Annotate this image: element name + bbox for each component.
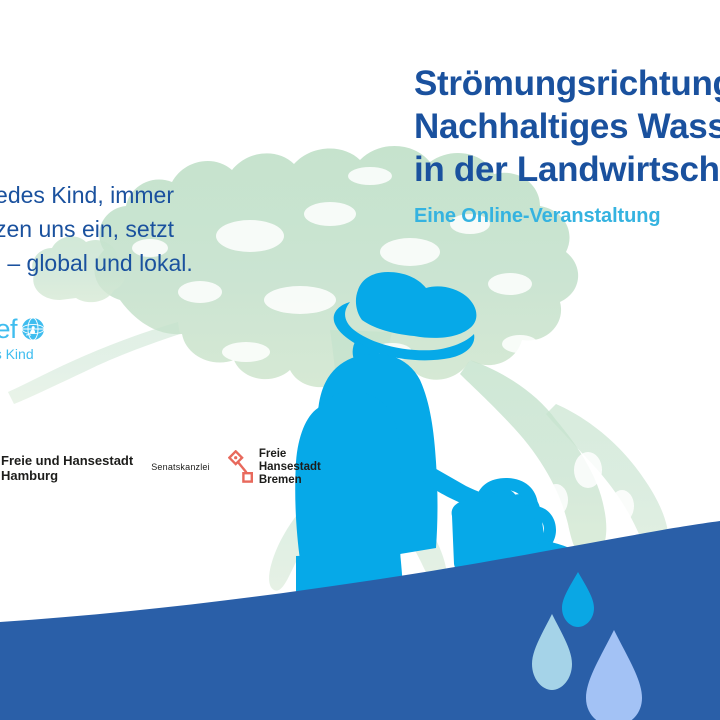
- partner-logo-hamburg: Freie und Hansestadt Hamburg: [0, 451, 133, 485]
- partner-logo-senatskanzlei: Senatskanzlei: [151, 462, 210, 473]
- farmer-hat: [356, 272, 476, 338]
- bremen-key-icon: [228, 450, 254, 486]
- droplet-pale-mint: [532, 614, 572, 690]
- bremen-line-1: Freie: [259, 448, 321, 461]
- claim-block: Für jedes Kind, immer Wir setzen uns ein…: [0, 178, 174, 280]
- farmer-leg-split: [342, 606, 366, 720]
- claim-line-1: Für jedes Kind, immer: [0, 178, 174, 212]
- unicef-wordmark: unicef: [0, 314, 17, 344]
- headline-line-3: in der Landwirtschaft: [414, 148, 720, 191]
- bremen-line-3: Bremen: [259, 474, 321, 487]
- unicef-logo: unicef für jedes Kind: [0, 314, 98, 363]
- farmer-head-neck: [353, 340, 396, 383]
- farmer-hand: [486, 488, 517, 514]
- watering-can-body: [452, 494, 547, 579]
- watering-can-side-handle: [532, 506, 556, 554]
- unicef-globe-emblem: [21, 317, 45, 341]
- farmer-legs: [296, 552, 406, 720]
- droplet-light-blue: [586, 630, 642, 720]
- hamburg-line-2: Hamburg: [1, 468, 133, 483]
- unicef-tagline: für jedes Kind: [0, 345, 98, 363]
- watering-can-spout-tip: [586, 569, 614, 594]
- headline-block: Strömungsrichtung: Nachhaltiges Wasser i…: [414, 62, 720, 229]
- watering-can-handle: [476, 478, 538, 506]
- farmer-hat-brim: [334, 302, 475, 360]
- hamburg-line-1: Freie und Hansestadt: [1, 453, 133, 468]
- farmer-torso: [317, 354, 437, 554]
- claim-line-3: euch ein – global und lokal.: [0, 246, 174, 280]
- partner-logo-bremen: Freie Hansestadt Bremen: [228, 448, 321, 487]
- headline-subtitle: Eine Online-Veranstaltung: [414, 203, 720, 229]
- claim-line-2: Wir setzen uns ein, setzt: [0, 212, 174, 246]
- farmer-arm: [412, 462, 500, 514]
- partner-logos: Freie und Hansestadt Hamburg Senatskanzl…: [0, 448, 321, 487]
- watering-can-spout: [536, 540, 604, 580]
- event-poster: Strömungsrichtung: Nachhaltiges Wasser i…: [0, 0, 720, 720]
- bremen-line-2: Hansestadt: [259, 461, 321, 474]
- senatskanzlei-label: Senatskanzlei: [151, 462, 210, 473]
- headline-line-1: Strömungsrichtung:: [414, 62, 720, 105]
- headline-line-2: Nachhaltiges Wasser: [414, 105, 720, 148]
- droplet-cyan: [562, 572, 594, 627]
